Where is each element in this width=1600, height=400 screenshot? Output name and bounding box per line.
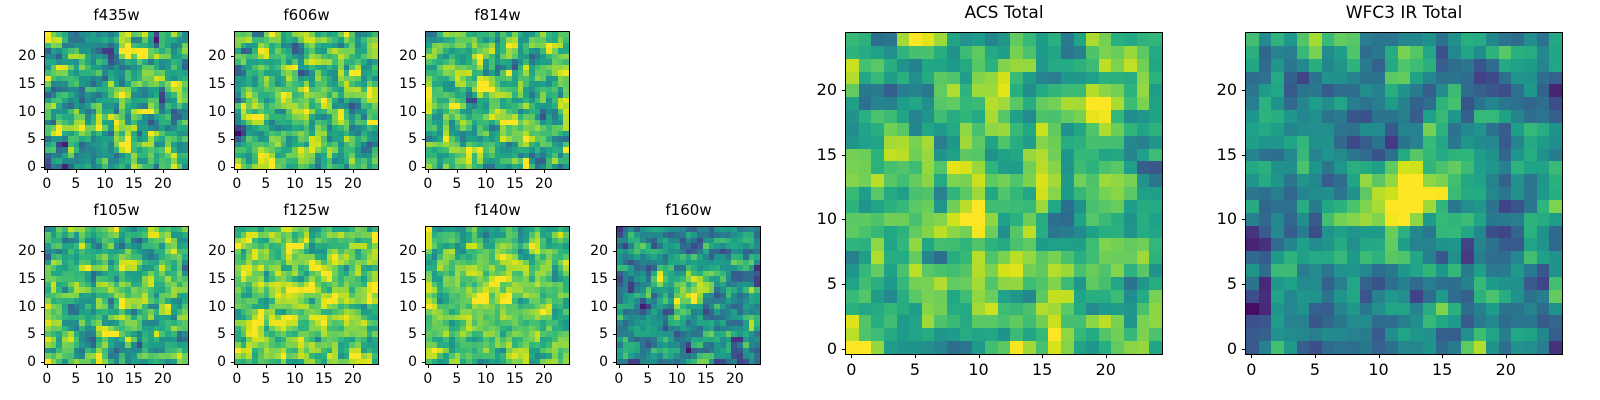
y-axis-tick-label: 20 xyxy=(365,244,417,258)
panel-title: f125w xyxy=(234,203,379,218)
x-axis-tick-label: 10 xyxy=(477,372,495,386)
x-axis-tick xyxy=(735,365,736,368)
x-axis-tick xyxy=(486,170,487,173)
plot-panel: ACS Total0510152005101520 xyxy=(785,5,1163,389)
x-axis-tick-label: 15 xyxy=(1432,362,1452,378)
y-axis-tick xyxy=(422,334,425,335)
y-axis-tick-label: 15 xyxy=(785,147,837,163)
x-axis-tick-label: 5 xyxy=(643,372,652,386)
x-axis-tick xyxy=(544,365,545,368)
heatmap-axes xyxy=(425,31,570,170)
plot-panel: f435w0510152005101520 xyxy=(0,8,189,204)
x-axis-tick xyxy=(163,170,164,173)
x-axis-tick-label: 5 xyxy=(71,177,80,191)
y-axis-tick xyxy=(41,56,44,57)
x-axis-tick-label: 20 xyxy=(154,177,172,191)
y-axis-tick xyxy=(1242,219,1245,220)
y-axis-tick-label: 10 xyxy=(365,105,417,119)
x-axis-tick-label: 5 xyxy=(261,177,270,191)
y-axis-tick xyxy=(231,307,234,308)
x-axis-tick-label: 20 xyxy=(726,372,744,386)
x-axis-tick-label: 20 xyxy=(1096,362,1116,378)
heatmap-axes xyxy=(1245,32,1563,355)
x-axis-tick xyxy=(1379,355,1380,358)
y-axis-tick-label: 20 xyxy=(785,82,837,98)
y-axis-tick-label: 5 xyxy=(174,327,226,341)
x-axis-tick-label: 15 xyxy=(506,372,524,386)
x-axis-tick xyxy=(1442,355,1443,358)
x-axis-tick-label: 20 xyxy=(154,372,172,386)
y-axis-tick xyxy=(613,251,616,252)
x-axis-tick-label: 10 xyxy=(968,362,988,378)
x-axis-tick xyxy=(851,355,852,358)
x-axis-tick xyxy=(47,170,48,173)
x-axis-tick-label: 10 xyxy=(96,177,114,191)
x-axis-tick xyxy=(353,170,354,173)
x-axis-tick xyxy=(1042,355,1043,358)
plot-panel: f814w0510152005101520 xyxy=(365,8,570,204)
x-axis-tick-label: 5 xyxy=(71,372,80,386)
x-axis-tick xyxy=(1251,355,1252,358)
x-axis-tick xyxy=(544,170,545,173)
y-axis-tick xyxy=(842,90,845,91)
y-axis-tick xyxy=(231,167,234,168)
x-axis-tick xyxy=(266,365,267,368)
x-axis-tick xyxy=(295,365,296,368)
y-axis-tick xyxy=(41,279,44,280)
y-axis-tick xyxy=(231,334,234,335)
x-axis-tick-label: 10 xyxy=(1368,362,1388,378)
heatmap-axes xyxy=(845,32,1163,355)
panel-title: ACS Total xyxy=(845,5,1163,22)
x-axis-tick-label: 20 xyxy=(344,177,362,191)
y-axis-tick xyxy=(422,279,425,280)
y-axis-tick-label: 5 xyxy=(1185,276,1237,292)
x-axis-tick xyxy=(324,170,325,173)
x-axis-tick-label: 5 xyxy=(452,372,461,386)
x-axis-tick xyxy=(457,170,458,173)
y-axis-tick xyxy=(231,362,234,363)
y-axis-tick xyxy=(422,84,425,85)
x-axis-tick xyxy=(76,365,77,368)
y-axis-tick xyxy=(422,139,425,140)
y-axis-tick-label: 10 xyxy=(0,300,36,314)
y-axis-tick xyxy=(1242,155,1245,156)
heatmap-image xyxy=(617,227,760,364)
x-axis-tick-label: 0 xyxy=(232,372,241,386)
y-axis-tick xyxy=(41,112,44,113)
x-axis-tick-label: 15 xyxy=(125,372,143,386)
y-axis-tick xyxy=(842,349,845,350)
x-axis-tick xyxy=(677,365,678,368)
y-axis-tick xyxy=(422,167,425,168)
y-axis-tick xyxy=(41,362,44,363)
x-axis-tick-label: 10 xyxy=(477,177,495,191)
y-axis-tick xyxy=(422,307,425,308)
x-axis-tick xyxy=(353,365,354,368)
y-axis-tick-label: 0 xyxy=(174,355,226,369)
y-axis-tick-label: 5 xyxy=(174,132,226,146)
y-axis-tick xyxy=(1242,284,1245,285)
plot-panel: f140w0510152005101520 xyxy=(365,203,570,399)
panel-title: f105w xyxy=(44,203,189,218)
panel-title: f435w xyxy=(44,8,189,23)
plot-panel: f160w0510152005101520 xyxy=(556,203,761,399)
y-axis-tick xyxy=(41,84,44,85)
heatmap-axes xyxy=(425,226,570,365)
x-axis-tick xyxy=(515,365,516,368)
x-axis-tick-label: 20 xyxy=(344,372,362,386)
x-axis-tick-label: 20 xyxy=(1496,362,1516,378)
x-axis-tick xyxy=(706,365,707,368)
y-axis-tick xyxy=(613,362,616,363)
y-axis-tick-label: 15 xyxy=(174,272,226,286)
y-axis-tick-label: 0 xyxy=(556,355,608,369)
y-axis-tick xyxy=(231,139,234,140)
y-axis-tick-label: 10 xyxy=(1185,211,1237,227)
y-axis-tick-label: 5 xyxy=(0,327,36,341)
y-axis-tick-label: 0 xyxy=(1185,341,1237,357)
heatmap-image xyxy=(426,227,569,364)
x-axis-tick xyxy=(134,170,135,173)
y-axis-tick-label: 0 xyxy=(0,355,36,369)
x-axis-tick-label: 10 xyxy=(668,372,686,386)
x-axis-tick-label: 0 xyxy=(423,177,432,191)
panel-title: f140w xyxy=(425,203,570,218)
y-axis-tick xyxy=(422,362,425,363)
heatmap-image xyxy=(235,227,378,364)
y-axis-tick xyxy=(231,251,234,252)
y-axis-tick xyxy=(41,251,44,252)
x-axis-tick-label: 15 xyxy=(125,177,143,191)
panel-title: f160w xyxy=(616,203,761,218)
x-axis-tick-label: 15 xyxy=(1032,362,1052,378)
x-axis-tick-label: 15 xyxy=(315,177,333,191)
x-axis-tick xyxy=(105,365,106,368)
y-axis-tick xyxy=(231,112,234,113)
y-axis-tick-label: 20 xyxy=(365,49,417,63)
y-axis-tick-label: 0 xyxy=(365,160,417,174)
heatmap-axes xyxy=(44,31,189,170)
y-axis-tick xyxy=(842,219,845,220)
y-axis-tick-label: 5 xyxy=(365,327,417,341)
y-axis-tick-label: 10 xyxy=(0,105,36,119)
heatmap-axes xyxy=(234,31,379,170)
y-axis-tick-label: 15 xyxy=(365,272,417,286)
x-axis-tick xyxy=(105,170,106,173)
x-axis-tick xyxy=(428,170,429,173)
y-axis-tick xyxy=(422,112,425,113)
panel-title: WFC3 IR Total xyxy=(1245,5,1563,22)
heatmap-axes xyxy=(44,226,189,365)
x-axis-tick xyxy=(266,170,267,173)
x-axis-tick xyxy=(1106,355,1107,358)
y-axis-tick-label: 10 xyxy=(785,211,837,227)
y-axis-tick-label: 20 xyxy=(556,244,608,258)
y-axis-tick-label: 15 xyxy=(556,272,608,286)
y-axis-tick-label: 10 xyxy=(174,105,226,119)
y-axis-tick-label: 0 xyxy=(0,160,36,174)
x-axis-tick-label: 10 xyxy=(96,372,114,386)
x-axis-tick xyxy=(237,365,238,368)
y-axis-tick xyxy=(422,251,425,252)
heatmap-axes xyxy=(234,226,379,365)
x-axis-tick xyxy=(648,365,649,368)
y-axis-tick xyxy=(842,284,845,285)
x-axis-tick xyxy=(457,365,458,368)
x-axis-tick-label: 0 xyxy=(42,177,51,191)
x-axis-tick xyxy=(237,170,238,173)
heatmap-image xyxy=(235,32,378,169)
y-axis-tick-label: 20 xyxy=(174,49,226,63)
x-axis-tick-label: 0 xyxy=(846,362,856,378)
y-axis-tick-label: 15 xyxy=(365,77,417,91)
x-axis-tick-label: 5 xyxy=(261,372,270,386)
y-axis-tick-label: 5 xyxy=(785,276,837,292)
y-axis-tick xyxy=(1242,349,1245,350)
x-axis-tick-label: 0 xyxy=(232,177,241,191)
x-axis-tick xyxy=(1506,355,1507,358)
y-axis-tick-label: 15 xyxy=(0,272,36,286)
x-axis-tick xyxy=(428,365,429,368)
y-axis-tick-label: 0 xyxy=(785,341,837,357)
y-axis-tick xyxy=(422,56,425,57)
x-axis-tick-label: 5 xyxy=(910,362,920,378)
x-axis-tick-label: 10 xyxy=(286,177,304,191)
x-axis-tick xyxy=(486,365,487,368)
y-axis-tick xyxy=(231,56,234,57)
x-axis-tick-label: 15 xyxy=(506,177,524,191)
heatmap-image xyxy=(846,33,1162,354)
y-axis-tick-label: 5 xyxy=(0,132,36,146)
plot-panel: WFC3 IR Total0510152005101520 xyxy=(1185,5,1563,389)
plot-panel: f125w0510152005101520 xyxy=(174,203,379,399)
x-axis-tick-label: 0 xyxy=(614,372,623,386)
y-axis-tick xyxy=(41,334,44,335)
x-axis-tick xyxy=(76,170,77,173)
y-axis-tick xyxy=(613,279,616,280)
heatmap-image xyxy=(45,227,188,364)
x-axis-tick-label: 15 xyxy=(315,372,333,386)
y-axis-tick-label: 10 xyxy=(556,300,608,314)
x-axis-tick-label: 15 xyxy=(697,372,715,386)
x-axis-tick xyxy=(515,170,516,173)
y-axis-tick-label: 20 xyxy=(1185,82,1237,98)
x-axis-tick-label: 20 xyxy=(535,177,553,191)
x-axis-tick xyxy=(134,365,135,368)
x-axis-tick-label: 20 xyxy=(535,372,553,386)
x-axis-tick xyxy=(324,365,325,368)
y-axis-tick xyxy=(613,307,616,308)
x-axis-tick xyxy=(163,365,164,368)
y-axis-tick-label: 10 xyxy=(365,300,417,314)
x-axis-tick xyxy=(295,170,296,173)
figure-canvas: f435w0510152005101520f606w05101520051015… xyxy=(0,0,1600,400)
x-axis-tick-label: 10 xyxy=(286,372,304,386)
x-axis-tick xyxy=(619,365,620,368)
y-axis-tick-label: 15 xyxy=(1185,147,1237,163)
heatmap-image xyxy=(45,32,188,169)
y-axis-tick-label: 20 xyxy=(0,244,36,258)
x-axis-tick-label: 0 xyxy=(42,372,51,386)
plot-panel: f606w0510152005101520 xyxy=(174,8,379,204)
x-axis-tick-label: 5 xyxy=(452,177,461,191)
y-axis-tick-label: 20 xyxy=(0,49,36,63)
y-axis-tick xyxy=(842,155,845,156)
y-axis-tick-label: 15 xyxy=(174,77,226,91)
y-axis-tick xyxy=(613,334,616,335)
panel-title: f606w xyxy=(234,8,379,23)
y-axis-tick-label: 20 xyxy=(174,244,226,258)
y-axis-tick xyxy=(231,84,234,85)
heatmap-image xyxy=(1246,33,1562,354)
y-axis-tick xyxy=(41,139,44,140)
y-axis-tick xyxy=(41,307,44,308)
y-axis-tick-label: 15 xyxy=(0,77,36,91)
panel-title: f814w xyxy=(425,8,570,23)
x-axis-tick xyxy=(915,355,916,358)
y-axis-tick xyxy=(1242,90,1245,91)
plot-panel: f105w0510152005101520 xyxy=(0,203,189,399)
y-axis-tick-label: 5 xyxy=(556,327,608,341)
x-axis-tick xyxy=(1315,355,1316,358)
x-axis-tick-label: 0 xyxy=(1246,362,1256,378)
y-axis-tick-label: 5 xyxy=(365,132,417,146)
y-axis-tick-label: 0 xyxy=(174,160,226,174)
x-axis-tick xyxy=(47,365,48,368)
y-axis-tick xyxy=(41,167,44,168)
x-axis-tick xyxy=(979,355,980,358)
x-axis-tick-label: 0 xyxy=(423,372,432,386)
x-axis-tick-label: 5 xyxy=(1310,362,1320,378)
heatmap-axes xyxy=(616,226,761,365)
y-axis-tick xyxy=(231,279,234,280)
y-axis-tick-label: 0 xyxy=(365,355,417,369)
heatmap-image xyxy=(426,32,569,169)
y-axis-tick-label: 10 xyxy=(174,300,226,314)
